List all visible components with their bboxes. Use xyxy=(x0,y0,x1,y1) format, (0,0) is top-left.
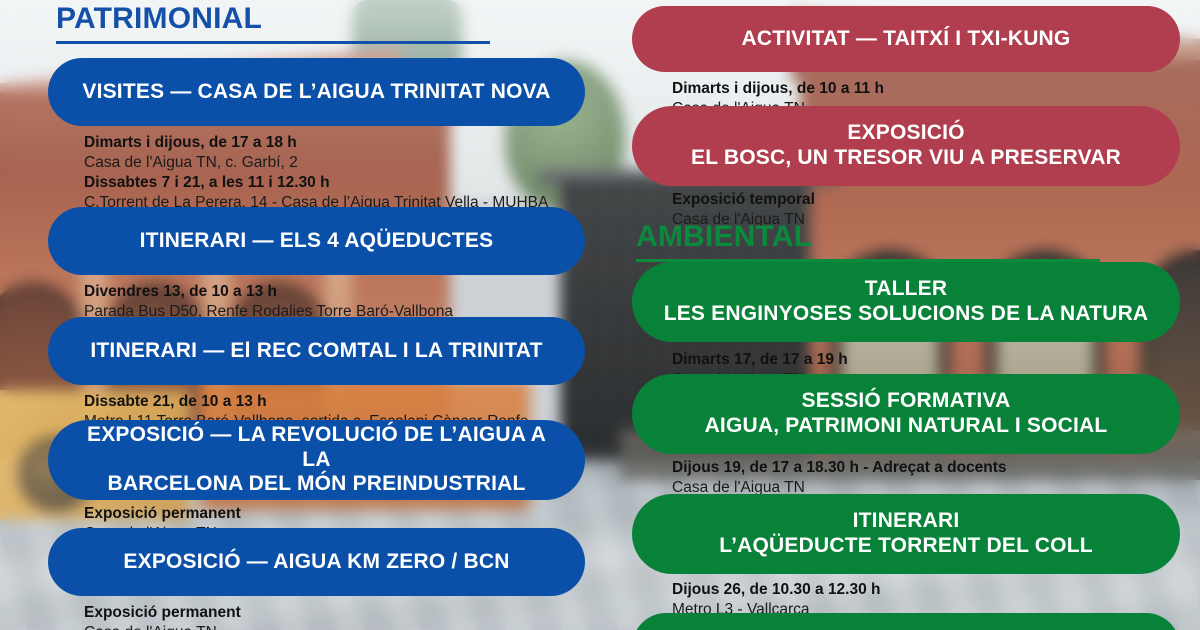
event-title-line-2: EL BOSC, UN TRESOR VIU A PRESERVAR xyxy=(691,146,1121,171)
event-meta: Dimarts i dijous, de 17 a 18 h Casa de l… xyxy=(84,133,585,214)
section-heading-ambiental: AMBIENTAL xyxy=(636,222,1100,262)
event-title-line: TALLER xyxy=(865,277,947,302)
event-title-line: EXPOSICIÓ — AIGUA KM ZERO / BCN xyxy=(123,550,509,575)
event-title-line: VISITES — CASA DE L’AIGUA TRINITAT NOVA xyxy=(82,80,550,105)
event-title-line-2: L’AQÜEDUCTE TORRENT DEL COLL xyxy=(719,534,1093,559)
event-title-pill[interactable]: EXPOSICIÓ EL BOSC, UN TRESOR VIU A PRESE… xyxy=(632,106,1180,186)
event-when: Dijous 19, de 17 a 18.30 h - Adreçat a d… xyxy=(672,458,1180,478)
event-title-line-2: LES ENGINYOSES SOLUCIONS DE LA NATURA xyxy=(664,302,1149,327)
event-title-pill[interactable]: EXPOSICIÓ — AIGUA KM ZERO / BCN xyxy=(48,528,585,596)
event-when: Dijous 26, de 10.30 a 12.30 h xyxy=(672,580,1180,600)
section-heading-patrimonial-label: PATRIMONIAL xyxy=(56,2,262,35)
event-when: Exposició temporal xyxy=(672,190,1180,210)
event-title-line: SESSIÓ FORMATIVA xyxy=(802,389,1011,414)
event-card-visites[interactable]: VISITES — CASA DE L’AIGUA TRINITAT NOVA … xyxy=(48,58,585,214)
event-card-taitxi[interactable]: ACTIVITAT — TAITXÍ I TXI-KUNG Dimarts i … xyxy=(632,6,1180,119)
event-card-el-bosc[interactable]: EXPOSICIÓ EL BOSC, UN TRESOR VIU A PRESE… xyxy=(632,106,1180,230)
event-title-line: ITINERARI — ELS 4 AQÜEDUCTES xyxy=(140,229,494,254)
event-card-sessio-formativa[interactable]: SESSIÓ FORMATIVA AIGUA, PATRIMONI NATURA… xyxy=(632,374,1180,498)
event-when: Dimarts 17, de 17 a 19 h xyxy=(672,350,1180,370)
event-when: Dimarts i dijous, de 10 a 11 h xyxy=(672,79,1180,99)
event-title-pill[interactable]: ITINERARI — ELS 4 AQÜEDUCTES xyxy=(48,207,585,275)
event-title-pill[interactable]: VISITES — CASA DE L’AIGUA TRINITAT NOVA xyxy=(48,58,585,126)
section-rule xyxy=(56,41,490,44)
poster-canvas: PATRIMONIAL VISITES — CASA DE L’AIGUA TR… xyxy=(0,0,1200,630)
event-title-pill[interactable]: SESSIÓ FORMATIVA AIGUA, PATRIMONI NATURA… xyxy=(632,374,1180,454)
event-title-line: ITINERARI — El REC COMTAL I LA TRINITAT xyxy=(90,339,542,364)
event-meta: Dijous 19, de 17 a 18.30 h - Adreçat a d… xyxy=(672,458,1180,498)
event-title-line: EXPOSICIÓ xyxy=(847,121,964,146)
event-when: Exposició permanent xyxy=(84,603,585,623)
event-where: Casa de l'Aigua TN xyxy=(84,623,585,630)
event-meta: Exposició permanent Casa de l'Aigua TN xyxy=(84,603,585,630)
event-card-exposicio-revolucio[interactable]: EXPOSICIÓ — LA REVOLUCIÓ DE L’AIGUA A LA… xyxy=(48,420,585,544)
event-card-taller[interactable]: TALLER LES ENGINYOSES SOLUCIONS DE LA NA… xyxy=(632,262,1180,390)
event-title-line: ACTIVITAT — TAITXÍ I TXI-KUNG xyxy=(742,27,1071,52)
event-title-pill[interactable]: ITINERARI — El REC COMTAL I LA TRINITAT xyxy=(48,317,585,385)
event-where: Casa de l'Aigua TN, c. Garbí, 2 xyxy=(84,153,585,173)
event-title-line-2: AIGUA, PATRIMONI NATURAL I SOCIAL xyxy=(705,414,1108,439)
event-title-pill[interactable]: ACTIVITAT — TAITXÍ I TXI-KUNG xyxy=(632,6,1180,72)
section-heading-patrimonial: PATRIMONIAL xyxy=(56,4,490,44)
event-card-exposicio-km-zero[interactable]: EXPOSICIÓ — AIGUA KM ZERO / BCN Exposici… xyxy=(48,528,585,630)
event-title-line: ITINERARI xyxy=(853,509,960,534)
event-card-next-cut-off[interactable] xyxy=(632,613,1180,630)
event-when-2: Dissabtes 7 i 21, a les 11 i 12.30 h xyxy=(84,173,585,193)
event-when: Divendres 13, de 10 a 13 h xyxy=(84,282,585,302)
event-when: Dimarts i dijous, de 17 a 18 h xyxy=(84,133,585,153)
event-when: Exposició permanent xyxy=(84,504,585,524)
event-title-line-2: BARCELONA DEL MÓN PREINDUSTRIAL xyxy=(107,472,525,497)
event-title-pill[interactable]: TALLER LES ENGINYOSES SOLUCIONS DE LA NA… xyxy=(632,262,1180,342)
event-when: Dissabte 21, de 10 a 13 h xyxy=(84,392,585,412)
event-title-line: EXPOSICIÓ — LA REVOLUCIÓ DE L’AIGUA A LA xyxy=(74,423,559,473)
event-title-pill[interactable]: EXPOSICIÓ — LA REVOLUCIÓ DE L’AIGUA A LA… xyxy=(48,420,585,500)
event-card-itinerari-torrent-coll[interactable]: ITINERARI L’AQÜEDUCTE TORRENT DEL COLL D… xyxy=(632,494,1180,620)
section-heading-ambiental-label: AMBIENTAL xyxy=(636,220,812,253)
event-card-itinerari-aqueductes[interactable]: ITINERARI — ELS 4 AQÜEDUCTES Divendres 1… xyxy=(48,207,585,322)
event-title-pill-partial[interactable] xyxy=(632,613,1180,630)
event-title-pill[interactable]: ITINERARI L’AQÜEDUCTE TORRENT DEL COLL xyxy=(632,494,1180,574)
